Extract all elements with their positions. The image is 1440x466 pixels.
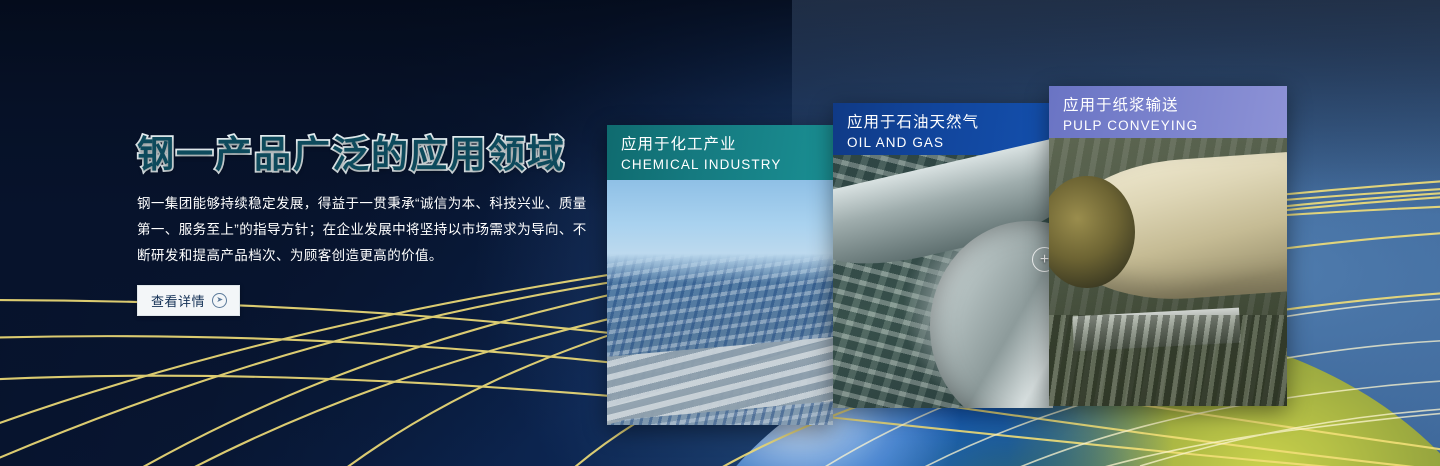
view-details-button[interactable]: 查看详情 ➤ <box>137 285 240 316</box>
pipeline-decoration <box>607 327 833 425</box>
view-details-label: 查看详情 <box>151 291 205 310</box>
hero-description: 钢一集团能够持续稳定发展，得益于一贯秉承“诚信为本、科技兴业、质量第一、服务至上… <box>137 191 589 269</box>
machine-base-decoration <box>1049 315 1287 406</box>
card-title-cn: 应用于化工产业 <box>621 135 820 156</box>
hero-copy: 钢一产品广泛的应用领域 钢一集团能够持续稳定发展，得益于一贯秉承“诚信为本、科技… <box>137 133 607 316</box>
card-title-cn: 应用于纸浆输送 <box>1063 96 1274 117</box>
chevron-right-circle-icon: ➤ <box>212 293 227 308</box>
hero-banner: 钢一产品广泛的应用领域 钢一集团能够持续稳定发展，得益于一贯秉承“诚信为本、科技… <box>0 0 1440 466</box>
card-title-en: CHEMICAL INDUSTRY <box>621 157 820 172</box>
oil-gas-refinery-photo <box>833 155 1053 408</box>
card-header: 应用于纸浆输送 PULP CONVEYING <box>1049 86 1287 138</box>
card-oil-and-gas[interactable]: 应用于石油天然气 OIL AND GAS + <box>833 103 1053 408</box>
card-title-cn: 应用于石油天然气 <box>847 113 1040 134</box>
card-chemical-industry[interactable]: 应用于化工产业 CHEMICAL INDUSTRY <box>607 125 833 425</box>
chemical-plant-photo <box>607 180 833 425</box>
pulp-paper-roller-photo <box>1049 138 1287 406</box>
card-header: 应用于化工产业 CHEMICAL INDUSTRY <box>607 125 833 180</box>
page-title: 钢一产品广泛的应用领域 <box>137 133 607 177</box>
card-title-en: PULP CONVEYING <box>1063 118 1274 133</box>
card-pulp-conveying[interactable]: 应用于纸浆输送 PULP CONVEYING <box>1049 86 1287 406</box>
